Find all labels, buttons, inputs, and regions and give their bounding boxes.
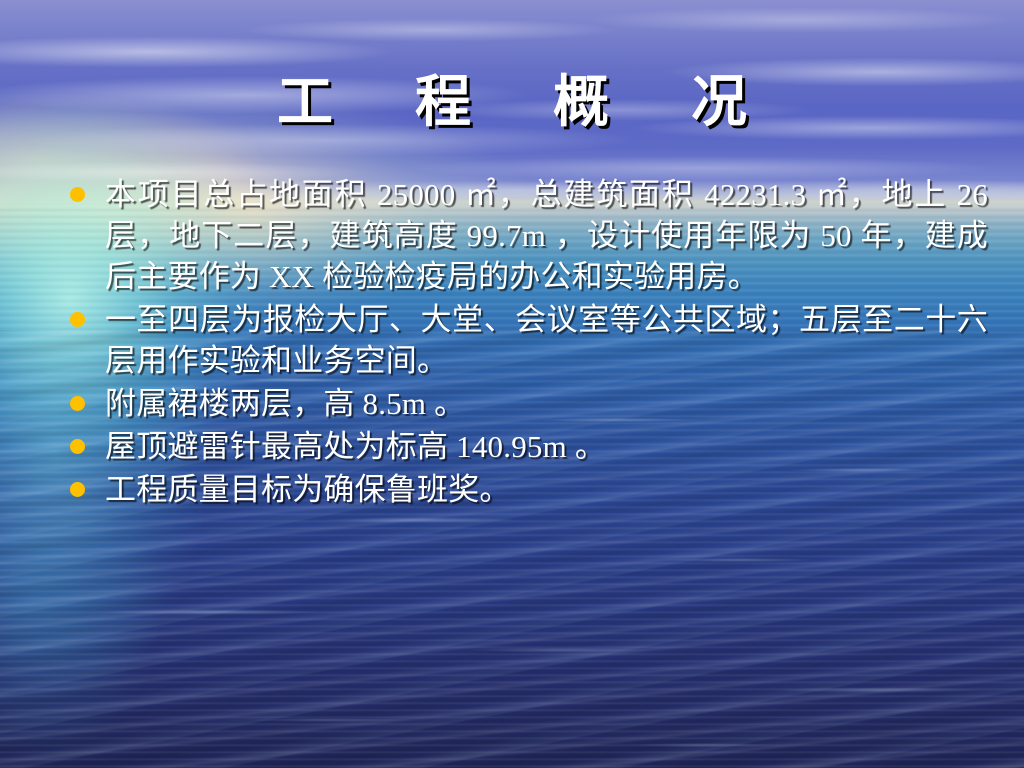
bullet-dot-icon: [70, 187, 85, 202]
presentation-slide: 工 程 概 况 本项目总占地面积 25000 ㎡，总建筑面积 42231.3 ㎡…: [0, 0, 1024, 768]
list-item-text: 附属裙楼两层，高 8.5m 。: [105, 383, 988, 424]
list-item-text: 屋顶避雷针最高处为标高 140.95m 。: [105, 426, 988, 467]
list-item[interactable]: 一至四层为报检大厅、大堂、会议室等公共区域；五层至二十六层用作实验和业务空间。: [58, 299, 988, 381]
list-item-text: 一至四层为报检大厅、大堂、会议室等公共区域；五层至二十六层用作实验和业务空间。: [105, 299, 988, 381]
list-item-text: 工程质量目标为确保鲁班奖。: [105, 469, 988, 510]
slide-title: 工 程 概 况: [0, 74, 1024, 133]
bullet-dot-icon: [70, 312, 85, 327]
bullet-dot-icon: [70, 396, 85, 411]
bullet-dot-icon: [70, 482, 85, 497]
list-item[interactable]: 屋顶避雷针最高处为标高 140.95m 。: [58, 426, 988, 467]
bullet-dot-icon: [70, 439, 85, 454]
list-item[interactable]: 附属裙楼两层，高 8.5m 。: [58, 383, 988, 424]
list-item[interactable]: 本项目总占地面积 25000 ㎡，总建筑面积 42231.3 ㎡，地上 26 层…: [58, 174, 988, 297]
list-item-text: 本项目总占地面积 25000 ㎡，总建筑面积 42231.3 ㎡，地上 26 层…: [105, 174, 988, 297]
slide-bullet-list: 本项目总占地面积 25000 ㎡，总建筑面积 42231.3 ㎡，地上 26 层…: [58, 174, 988, 512]
list-item[interactable]: 工程质量目标为确保鲁班奖。: [58, 469, 988, 510]
